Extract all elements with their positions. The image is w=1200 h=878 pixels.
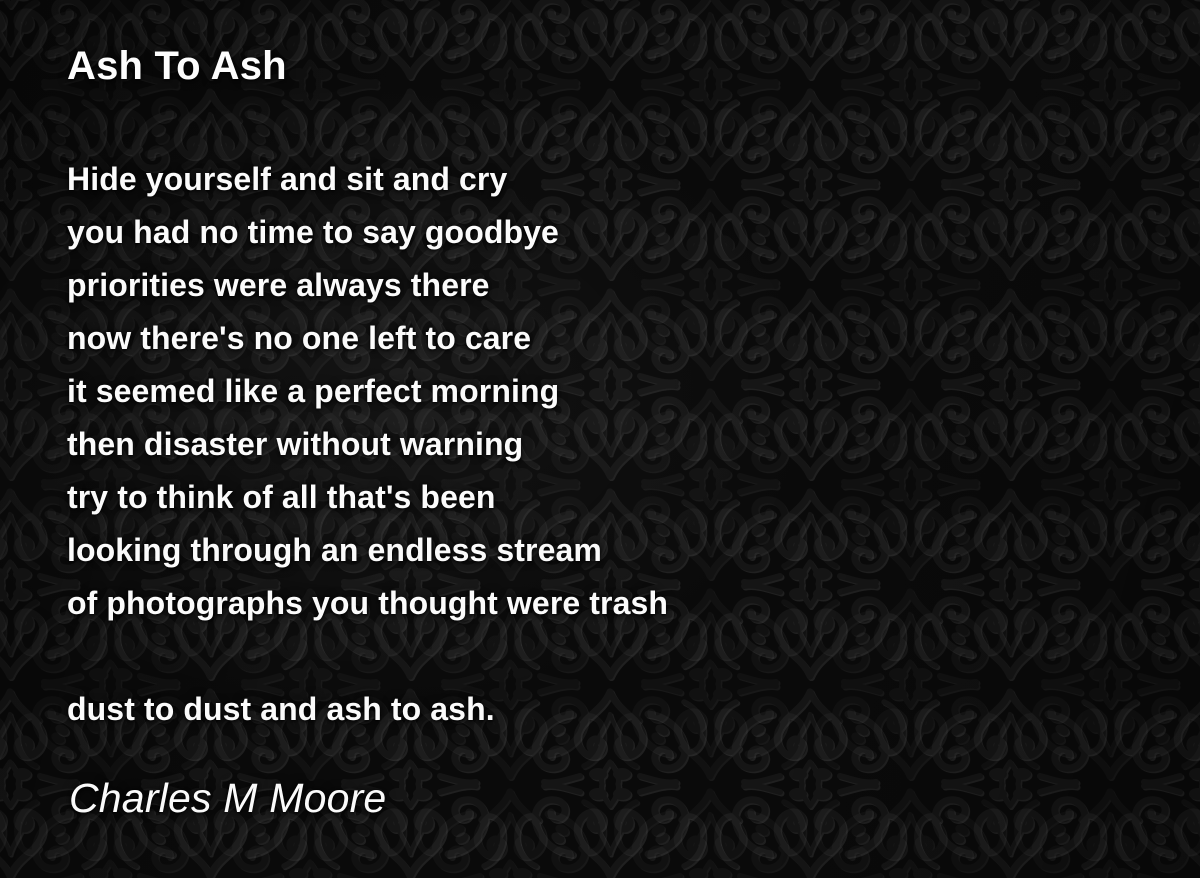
poem-line: looking through an endless stream xyxy=(67,524,668,577)
poem-line: then disaster without warning xyxy=(67,418,668,471)
poem-line: you had no time to say goodbye xyxy=(67,206,668,259)
poem-line: it seemed like a perfect morning xyxy=(67,365,668,418)
poem-line: now there's no one left to care xyxy=(67,312,668,365)
poem-author-signature: Charles M Moore xyxy=(69,775,386,822)
poem-line: Hide yourself and sit and cry xyxy=(67,153,668,206)
poem-line: of photographs you thought were trash xyxy=(67,577,668,630)
poem-content: Ash To Ash Hide yourself and sit and cry… xyxy=(67,0,1127,878)
poem-line-blank xyxy=(67,630,668,683)
poem-line: dust to dust and ash to ash. xyxy=(67,683,668,736)
poem-body: Hide yourself and sit and cryyou had no … xyxy=(67,153,668,736)
poem-line: priorities were always there xyxy=(67,259,668,312)
page-title: Ash To Ash xyxy=(67,44,287,89)
poem-poster: Ash To Ash Hide yourself and sit and cry… xyxy=(0,0,1200,878)
poem-line: try to think of all that's been xyxy=(67,471,668,524)
